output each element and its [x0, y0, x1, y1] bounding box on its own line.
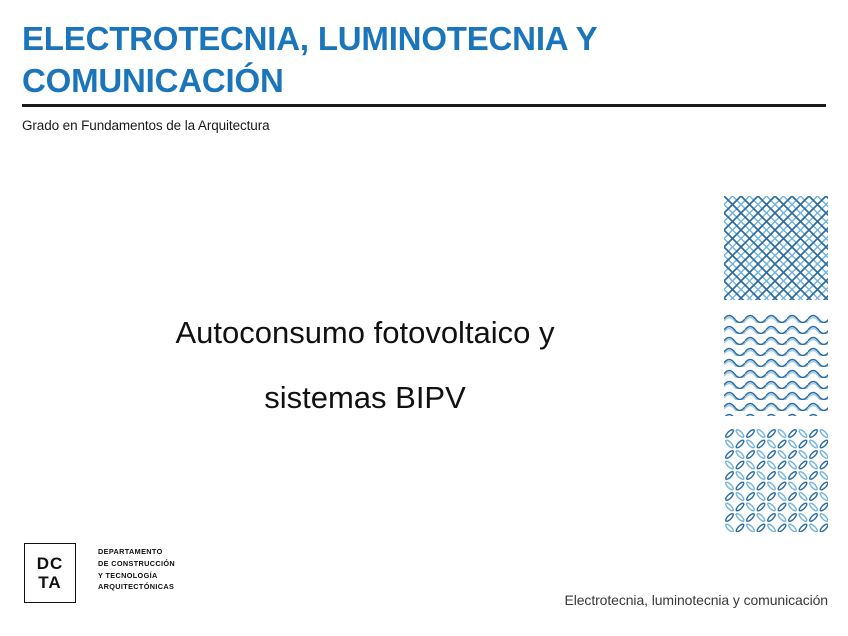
presentation-title-line-2: sistemas BIPV [60, 365, 670, 430]
department-name-line-1: DEPARTAMENTO [98, 546, 175, 558]
footer-course-label: Electrotecnia, luminotecnia y comunicaci… [565, 592, 829, 608]
decorative-pattern-column [724, 196, 828, 544]
degree-subtitle: Grado en Fundamentos de la Arquitectura [22, 118, 270, 133]
page-title: ELECTROTECNIA, LUMINOTECNIA Y COMUNICACI… [22, 18, 722, 102]
department-logo: DC TA DEPARTAMENTO DE CONSTRUCCIÓN Y TEC… [24, 543, 175, 603]
dcta-logo-mark: DC TA [24, 543, 76, 603]
header: ELECTROTECNIA, LUMINOTECNIA Y COMUNICACI… [22, 18, 722, 102]
presentation-title: Autoconsumo fotovoltaico y sistemas BIPV [60, 300, 670, 430]
wave-lines-pattern [724, 312, 828, 416]
tilted-ellipses-pattern [724, 428, 828, 532]
department-name-line-4: ARQUITECTÓNICAS [98, 581, 175, 593]
presentation-title-line-1: Autoconsumo fotovoltaico y [60, 300, 670, 365]
dcta-logo-line-2: TA [38, 573, 61, 592]
department-name: DEPARTAMENTO DE CONSTRUCCIÓN Y TECNOLOGÍ… [98, 546, 175, 593]
header-divider [22, 104, 826, 107]
department-name-line-2: DE CONSTRUCCIÓN [98, 558, 175, 570]
department-name-line-3: Y TECNOLOGÍA [98, 570, 175, 582]
diagonal-lattice-pattern [724, 196, 828, 300]
slide-canvas: ELECTROTECNIA, LUMINOTECNIA Y COMUNICACI… [0, 0, 848, 636]
dcta-logo-line-1: DC [37, 554, 64, 573]
